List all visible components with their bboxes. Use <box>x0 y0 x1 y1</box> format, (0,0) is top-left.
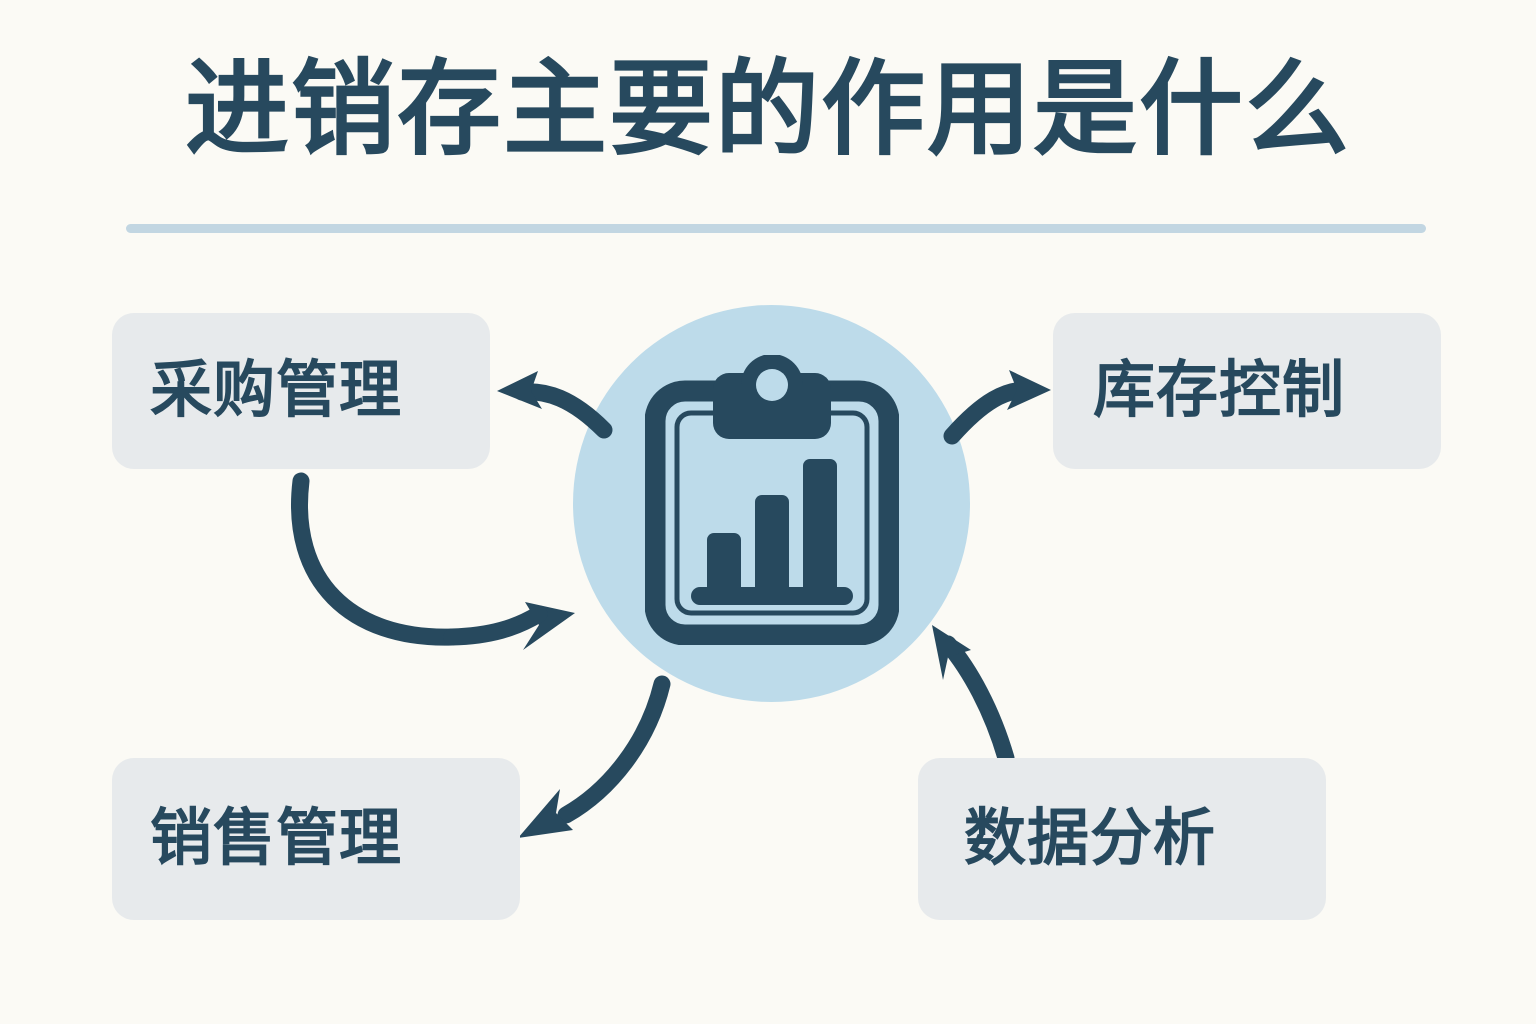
node-label-purchasing: 采购管理 <box>150 360 402 422</box>
node-label-analytics: 数据分析 <box>964 808 1216 870</box>
curved-arrow-right-icon <box>952 370 1051 436</box>
node-label-sales: 销售管理 <box>150 808 402 870</box>
curved-arrow-down-left-icon <box>518 684 662 838</box>
curved-arrow-up-left-icon <box>932 625 1006 758</box>
clipboard-bar-chart-icon <box>645 355 899 645</box>
node-box-sales[interactable]: 销售管理 <box>112 758 520 920</box>
page-title: 进销存主要的作用是什么 <box>0 52 1536 168</box>
node-box-inventory[interactable]: 库存控制 <box>1053 313 1441 469</box>
node-box-purchasing[interactable]: 采购管理 <box>112 313 490 469</box>
title-divider <box>126 224 1426 233</box>
infographic-canvas: 进销存主要的作用是什么 <box>0 0 1536 1024</box>
node-label-inventory: 库存控制 <box>1093 360 1345 422</box>
node-box-analytics[interactable]: 数据分析 <box>918 758 1326 920</box>
curved-arrow-left-icon <box>497 371 604 430</box>
curved-arrow-down-right-icon <box>300 481 575 650</box>
